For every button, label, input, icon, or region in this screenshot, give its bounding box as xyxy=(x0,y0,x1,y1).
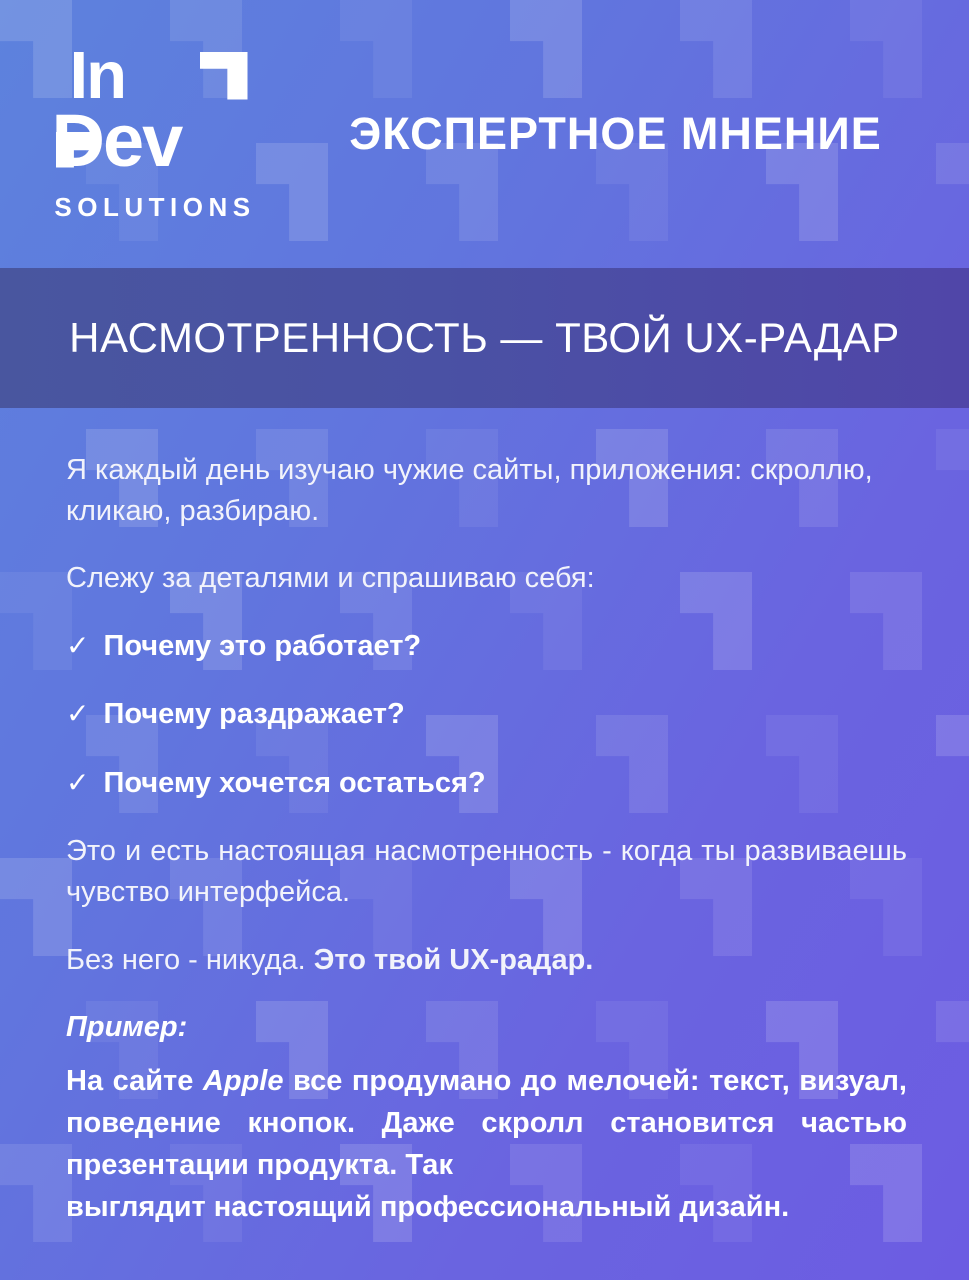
poster-canvas: In Dev SOLUTIONS ЭКСПЕРТНОЕ МНЕНИЕ НАСМО… xyxy=(0,0,969,1280)
question-lead: Слежу за деталями и спрашиваю себя: xyxy=(66,558,907,599)
logo-tagline: SOLUTIONS xyxy=(30,192,280,223)
checklist-item-label: Почему это работает? xyxy=(103,626,421,667)
subtitle-text: НАСМОТРЕННОСТЬ — ТВОЙ UX-РАДАР xyxy=(69,314,900,362)
checkmark-icon: ✓ xyxy=(66,626,89,665)
logo-mark: In Dev xyxy=(48,46,263,186)
example-label: Пример: xyxy=(66,1007,907,1048)
closing-plain-text: Без него - никуда. xyxy=(66,944,314,976)
example-brand-name: Apple xyxy=(203,1065,284,1097)
corner-bracket-icon xyxy=(200,52,248,100)
example-last-line: выглядит настоящий профессиональный диза… xyxy=(66,1186,907,1228)
logo-text-dev: Dev xyxy=(52,104,182,178)
definition-paragraph: Это и есть настоящая насмотренность - ко… xyxy=(66,831,907,913)
poster-body: Я каждый день изучаю чужие сайты, прилож… xyxy=(0,408,969,1228)
checklist-item: ✓ Почему хочется остаться? xyxy=(66,763,907,804)
checklist-item: ✓ Почему это работает? xyxy=(66,626,907,667)
brand-logo: In Dev SOLUTIONS xyxy=(30,46,280,223)
subtitle-band: НАСМОТРЕННОСТЬ — ТВОЙ UX-РАДАР xyxy=(0,268,969,408)
checkmark-icon: ✓ xyxy=(66,694,89,733)
intro-paragraph: Я каждый день изучаю чужие сайты, прилож… xyxy=(66,450,907,532)
checklist-item: ✓ Почему раздражает? xyxy=(66,694,907,735)
checklist-item-label: Почему хочется остаться? xyxy=(103,763,485,804)
example-text-part1: На сайте xyxy=(66,1065,203,1097)
closing-paragraph: Без него - никуда. Это твой UX-радар. xyxy=(66,940,907,981)
poster-header: In Dev SOLUTIONS ЭКСПЕРТНОЕ МНЕНИЕ xyxy=(0,0,969,268)
checkmark-icon: ✓ xyxy=(66,763,89,802)
header-title: ЭКСПЕРТНОЕ МНЕНИЕ xyxy=(280,109,969,159)
closing-bold-text: Это твой UX-радар. xyxy=(314,944,594,976)
example-paragraph: На сайте Apple все продумано до мелочей:… xyxy=(66,1060,907,1228)
checklist-item-label: Почему раздражает? xyxy=(103,694,404,735)
